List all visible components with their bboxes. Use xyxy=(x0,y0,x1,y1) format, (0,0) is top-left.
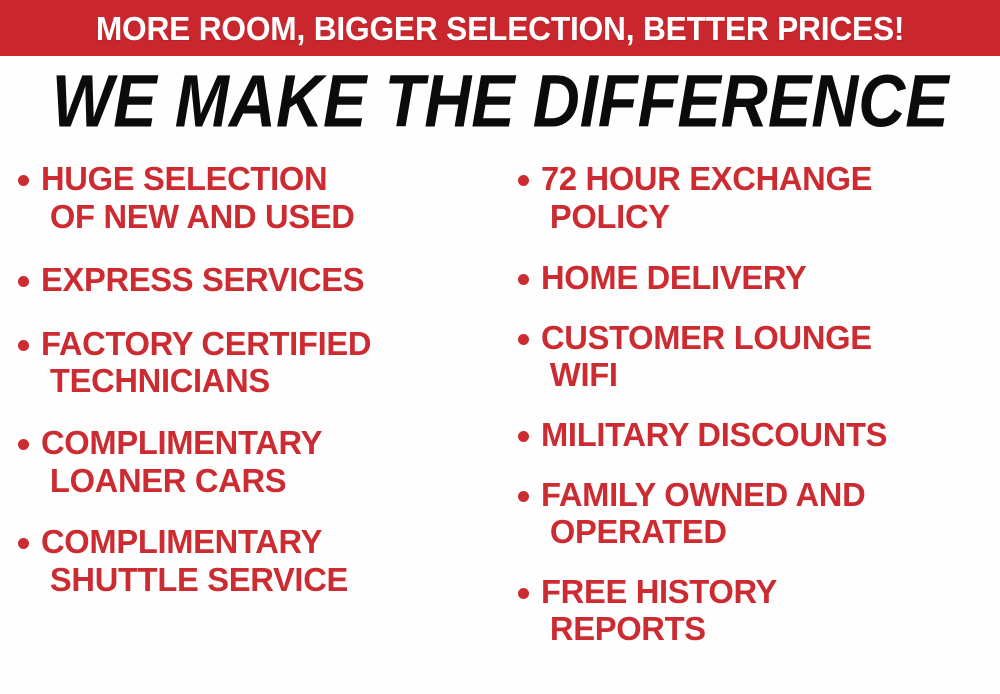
list-item: 72 HOUR EXCHANGEPOLICY xyxy=(518,160,998,235)
list-item: HUGE SELECTIONOF NEW AND USED xyxy=(18,160,496,235)
list-item-line: POLICY xyxy=(541,198,872,236)
promo-poster: MORE ROOM, BIGGER SELECTION, BETTER PRIC… xyxy=(0,0,1000,694)
list-item: FAMILY OWNED ANDOPERATED xyxy=(518,476,998,551)
list-item: FACTORY CERTIFIEDTECHNICIANS xyxy=(18,325,496,400)
bullet-dot-icon xyxy=(18,439,29,450)
list-item-line: HUGE SELECTION xyxy=(41,160,355,198)
benefits-column-left: HUGE SELECTIONOF NEW AND USEDEXPRESS SER… xyxy=(0,160,500,694)
list-item: MILITARY DISCOUNTS xyxy=(518,416,998,454)
list-item-line: COMPLIMENTARY xyxy=(41,523,348,561)
list-item-line: FAMILY OWNED AND xyxy=(541,476,865,514)
list-item: FREE HISTORYREPORTS xyxy=(518,573,998,648)
list-item-line: COMPLIMENTARY xyxy=(41,424,322,462)
list-item-label: COMPLIMENTARYLOANER CARS xyxy=(41,424,322,499)
bullet-dot-icon xyxy=(518,274,529,285)
list-item-line: LOANER CARS xyxy=(41,462,322,500)
top-banner: MORE ROOM, BIGGER SELECTION, BETTER PRIC… xyxy=(0,0,1000,56)
list-item-line: FREE HISTORY xyxy=(541,573,777,611)
bullet-dot-icon xyxy=(18,340,29,351)
list-item-label: 72 HOUR EXCHANGEPOLICY xyxy=(541,160,872,235)
list-item: COMPLIMENTARYSHUTTLE SERVICE xyxy=(18,523,496,598)
list-item-label: EXPRESS SERVICES xyxy=(41,261,364,299)
benefits-columns: HUGE SELECTIONOF NEW AND USEDEXPRESS SER… xyxy=(0,160,1000,694)
list-item-line: WIFI xyxy=(541,356,872,394)
list-item-line: OPERATED xyxy=(541,513,865,551)
list-item-label: COMPLIMENTARYSHUTTLE SERVICE xyxy=(41,523,348,598)
list-item-label: FACTORY CERTIFIEDTECHNICIANS xyxy=(41,325,371,400)
list-item-label: FAMILY OWNED ANDOPERATED xyxy=(541,476,865,551)
list-item-line: 72 HOUR EXCHANGE xyxy=(541,160,872,198)
bullet-dot-icon xyxy=(18,175,29,186)
list-item-line: CUSTOMER LOUNGE xyxy=(541,319,872,357)
list-item: EXPRESS SERVICES xyxy=(18,261,496,299)
banner-headline: MORE ROOM, BIGGER SELECTION, BETTER PRIC… xyxy=(96,12,904,45)
list-item-label: HUGE SELECTIONOF NEW AND USED xyxy=(41,160,355,235)
bullet-dot-icon xyxy=(18,538,29,549)
list-item-line: MILITARY DISCOUNTS xyxy=(541,416,887,454)
list-item-line: OF NEW AND USED xyxy=(41,198,355,236)
list-item-line: FACTORY CERTIFIED xyxy=(41,325,371,363)
list-item-line: HOME DELIVERY xyxy=(541,259,806,297)
list-item-line: SHUTTLE SERVICE xyxy=(41,561,348,599)
headline-area: WE MAKE THE DIFFERENCE xyxy=(0,62,1000,140)
bullet-dot-icon xyxy=(518,431,529,442)
bullet-dot-icon xyxy=(518,175,529,186)
list-item: COMPLIMENTARYLOANER CARS xyxy=(18,424,496,499)
bullet-dot-icon xyxy=(18,276,29,287)
list-item-label: CUSTOMER LOUNGEWIFI xyxy=(541,319,872,394)
benefits-column-right: 72 HOUR EXCHANGEPOLICYHOME DELIVERYCUSTO… xyxy=(500,160,1000,694)
bullet-dot-icon xyxy=(518,588,529,599)
list-item-line: EXPRESS SERVICES xyxy=(41,261,364,299)
list-item-line: REPORTS xyxy=(541,610,777,648)
list-item-label: FREE HISTORYREPORTS xyxy=(541,573,777,648)
page-title: WE MAKE THE DIFFERENCE xyxy=(52,64,949,138)
bullet-dot-icon xyxy=(518,491,529,502)
list-item-line: TECHNICIANS xyxy=(41,362,371,400)
list-item-label: HOME DELIVERY xyxy=(541,259,806,297)
bullet-dot-icon xyxy=(518,334,529,345)
list-item-label: MILITARY DISCOUNTS xyxy=(541,416,887,454)
list-item: HOME DELIVERY xyxy=(518,259,998,297)
list-item: CUSTOMER LOUNGEWIFI xyxy=(518,319,998,394)
